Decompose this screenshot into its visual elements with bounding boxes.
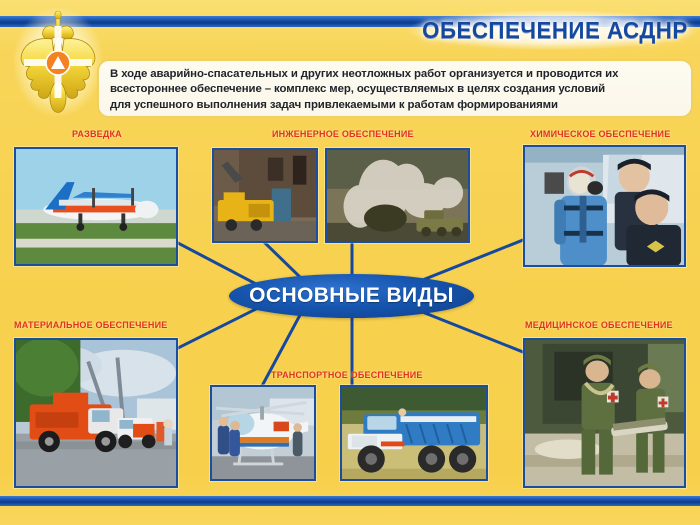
caption-himicheskoe: ХИМИЧЕСКОЕ ОБЕСПЕЧЕНИЕ [530, 129, 670, 139]
photo-blue-military-truck [340, 385, 488, 481]
caption-materialnoe: МАТЕРИАЛЬНОЕ ОБЕСПЕЧЕНИЕ [14, 320, 167, 330]
center-node-label: ОСНОВНЫЕ ВИДЫ [249, 284, 454, 308]
caption-razvedka: РАЗВЕДКА [72, 129, 122, 139]
photo-excavator-demolition [212, 148, 318, 243]
poster-canvas: ОБЕСПЕЧЕНИЕ АСДНР В ходе аварийно-спасат… [0, 0, 700, 525]
photo-controlled-explosion [325, 148, 470, 243]
photo-reconnaissance-aircraft [14, 147, 178, 266]
caption-transportnoe: ТРАНСПОРТНОЕ ОБЕСПЕЧЕНИЕ [271, 370, 423, 380]
photo-rescue-helicopter [210, 385, 316, 481]
caption-inzhenernoe: ИНЖЕНЕРНОЕ ОБЕСПЕЧЕНИЕ [272, 129, 414, 139]
photo-chemical-protection-suit [523, 145, 686, 267]
photo-medics-carrying-stretcher [523, 338, 686, 488]
center-node: ОСНОВНЫЕ ВИДЫ [229, 274, 474, 318]
photo-fire-trucks-convoy [14, 338, 178, 488]
caption-medicinskoe: МЕДИЦИНСКОЕ ОБЕСПЕЧЕНИЕ [525, 320, 673, 330]
